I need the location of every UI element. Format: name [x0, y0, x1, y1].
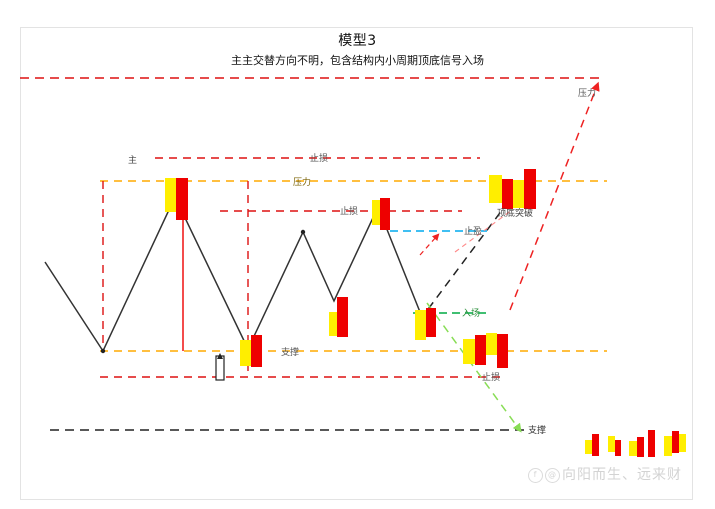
candle-breakout	[524, 169, 536, 209]
chart-svg	[0, 0, 715, 509]
candle-tail-2	[615, 440, 621, 456]
candle-breakout	[502, 179, 513, 209]
candle-high-3	[372, 200, 380, 225]
label-resistance-top: 压力	[578, 86, 596, 99]
candle-low-4	[426, 308, 436, 337]
entry-marker-box	[216, 353, 224, 380]
candle-decline	[463, 339, 475, 364]
label-breakout: 顶底突破	[497, 206, 533, 219]
candle-tail-3	[629, 441, 637, 456]
takeprofit-arrow	[420, 236, 437, 255]
facebook-icon: f	[528, 468, 543, 483]
label-main: 主	[128, 153, 137, 166]
projection-arrows	[420, 86, 597, 429]
label-support-bottom: 支撑	[528, 423, 546, 436]
label-resistance-mid: 压力	[293, 175, 311, 188]
watermark: f@向阳而生、远来财	[528, 464, 682, 484]
chart-canvas: 模型3 主主交替方向不明，包含结构内小周期顶底信号入场	[0, 0, 715, 509]
candle-tail-3	[637, 437, 644, 457]
label-stoploss-upper: 止损	[310, 151, 328, 164]
price-path	[45, 197, 420, 351]
candle-decline	[497, 334, 508, 368]
at-icon: @	[545, 468, 560, 483]
label-stoploss-mid: 止损	[340, 204, 358, 217]
label-takeprofit: 止盈	[464, 224, 482, 237]
candle-high-1	[176, 178, 188, 220]
watermark-text: 向阳而生、远来财	[562, 467, 682, 483]
candle-tail-3	[648, 430, 655, 457]
candle-decline	[486, 333, 497, 355]
candle-high-3	[380, 198, 390, 230]
candle-high-1	[165, 178, 176, 212]
candlesticks	[165, 169, 686, 457]
candle-tail-1	[592, 434, 599, 456]
label-support-mid: 支撑	[281, 345, 299, 358]
label-stoploss-lower: 止损	[482, 370, 500, 383]
candle-low-2	[251, 335, 262, 367]
candle-breakout	[513, 180, 524, 208]
label-entry: 入场	[462, 306, 480, 319]
candle-low-3	[329, 312, 337, 336]
candle-low-4	[415, 310, 426, 340]
candle-breakout	[489, 175, 502, 203]
candle-tail-4	[679, 434, 686, 452]
candle-decline	[475, 335, 486, 365]
candle-low-3	[337, 297, 348, 337]
candle-tail-4	[664, 436, 672, 456]
candle-tail-1	[585, 440, 592, 454]
candle-tail-2	[608, 436, 615, 452]
candle-tail-4	[672, 431, 679, 453]
candle-low-2	[240, 340, 251, 366]
